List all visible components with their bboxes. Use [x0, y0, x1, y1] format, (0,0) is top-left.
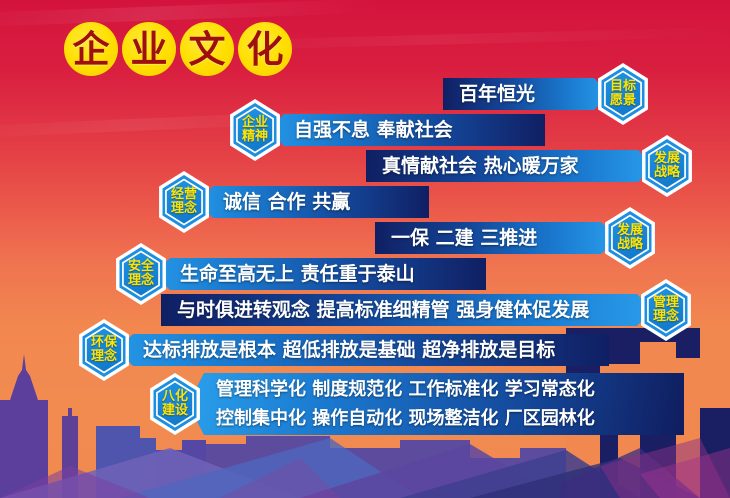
- badge-line-1: 八化: [162, 390, 188, 404]
- badge-label-strategy-1: 发展 战略: [654, 152, 680, 180]
- badge-line-1: 经营: [171, 188, 197, 202]
- badge-safety[interactable]: 安全 理念: [112, 243, 170, 305]
- badge-label-management: 管理 理念: [653, 296, 679, 324]
- badge-line-1: 目标: [610, 80, 636, 94]
- banner-text-management: 与时俱进转观念 提高标准细精管 强身健体促发展: [177, 301, 589, 320]
- badge-line-2: 愿景: [610, 94, 636, 108]
- badge-line-2: 理念: [653, 310, 679, 324]
- badge-line-2: 精神: [242, 130, 268, 144]
- badge-operating[interactable]: 经营 理念: [155, 171, 213, 233]
- title-char-2: 业: [122, 22, 176, 76]
- badge-label-safety: 安全 理念: [128, 260, 154, 288]
- badge-line-2: 建设: [162, 404, 188, 418]
- badge-line-1: 发展: [617, 224, 643, 238]
- badge-strategy-1[interactable]: 发展 战略: [638, 135, 696, 197]
- banner-text-environment: 达标排放是根本 超低排放是基础 超净排放是目标: [143, 341, 555, 360]
- badge-label-operating: 经营 理念: [171, 188, 197, 216]
- badge-management[interactable]: 管理 理念: [637, 279, 695, 341]
- page-title: 企 业 文 化: [64, 22, 292, 76]
- row-environment: 环保 理念 达标排放是根本 超低排放是基础 超净排放是目标: [75, 319, 609, 381]
- badge-eight-modernizations[interactable]: 八化 建设: [146, 373, 204, 435]
- badge-line-1: 安全: [128, 260, 154, 274]
- badge-label-environment: 环保 理念: [91, 336, 117, 364]
- poster-canvas: 企 业 文 化 百年恒光 目标 愿景 企业 精神: [0, 0, 730, 498]
- badge-strategy-2[interactable]: 发展 战略: [601, 207, 659, 269]
- banner-text-operating: 诚信 合作 共赢: [223, 193, 350, 212]
- badge-vision[interactable]: 目标 愿景: [594, 63, 652, 125]
- title-char-4: 化: [238, 22, 292, 76]
- badge-label-strategy-2: 发展 战略: [617, 224, 643, 252]
- banner-eight-modernizations: 管理科学化 制度规范化 工作标准化 学习常态化 控制集中化 操作自动化 现场整洁…: [188, 373, 684, 435]
- banner-line-2: 控制集中化 操作自动化 现场整洁化 厂区园林化: [216, 404, 595, 433]
- title-char-3: 文: [180, 22, 234, 76]
- badge-line-1: 环保: [91, 336, 117, 350]
- badge-line-2: 战略: [617, 238, 643, 252]
- banner-line-1: 管理科学化 制度规范化 工作标准化 学习常态化: [216, 375, 595, 404]
- badge-line-1: 管理: [653, 296, 679, 310]
- badge-label-vision: 目标 愿景: [610, 80, 636, 108]
- badge-spirit[interactable]: 企业 精神: [226, 99, 284, 161]
- title-char-1: 企: [64, 22, 118, 76]
- badge-line-2: 战略: [654, 166, 680, 180]
- badge-line-1: 企业: [242, 116, 268, 130]
- badge-environment[interactable]: 环保 理念: [75, 319, 133, 381]
- badge-label-eight-modernizations: 八化 建设: [162, 390, 188, 418]
- banner-environment: 达标排放是根本 超低排放是基础 超净排放是目标: [117, 334, 609, 366]
- badge-line-2: 理念: [171, 202, 197, 216]
- badge-line-2: 理念: [91, 350, 117, 364]
- row-eight-modernizations: 八化 建设 管理科学化 制度规范化 工作标准化 学习常态化 控制集中化 操作自动…: [146, 373, 684, 435]
- badge-line-2: 理念: [128, 274, 154, 288]
- badge-label-spirit: 企业 精神: [242, 116, 268, 144]
- badge-line-1: 发展: [654, 152, 680, 166]
